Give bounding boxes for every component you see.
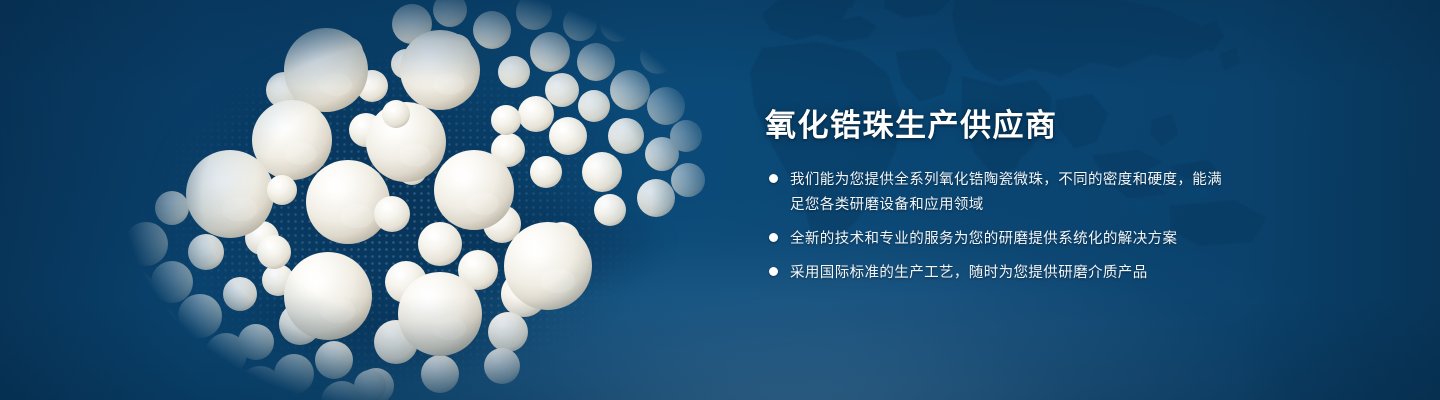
feature-text: 全新的技术和专业的服务为您的研磨提供系统化的解决方案 xyxy=(790,231,1177,247)
list-item: 全新的技术和专业的服务为您的研磨提供系统化的解决方案 xyxy=(765,227,1235,252)
list-item: 我们能为您提供全系列氧化锆陶瓷微珠，不同的密度和硬度，能满足您各类研磨设备和应用… xyxy=(765,168,1235,218)
filled-circle-bullet-icon xyxy=(769,174,778,183)
filled-circle-bullet-icon xyxy=(769,233,778,242)
feature-text: 我们能为您提供全系列氧化锆陶瓷微珠，不同的密度和硬度，能满足您各类研磨设备和应用… xyxy=(790,172,1222,213)
filled-circle-bullet-icon xyxy=(769,267,778,276)
banner-copy: 氧化锆珠生产供应商 我们能为您提供全系列氧化锆陶瓷微珠，不同的密度和硬度，能满足… xyxy=(765,106,1235,286)
list-item: 采用国际标准的生产工艺，随时为您提供研磨介质产品 xyxy=(765,261,1235,286)
feature-text: 采用国际标准的生产工艺，随时为您提供研磨介质产品 xyxy=(790,265,1148,281)
hero-banner: 氧化锆珠生产供应商 我们能为您提供全系列氧化锆陶瓷微珠，不同的密度和硬度，能满足… xyxy=(0,0,1440,400)
page-title: 氧化锆珠生产供应商 xyxy=(765,106,1235,146)
feature-list: 我们能为您提供全系列氧化锆陶瓷微珠，不同的密度和硬度，能满足您各类研磨设备和应用… xyxy=(765,168,1235,286)
